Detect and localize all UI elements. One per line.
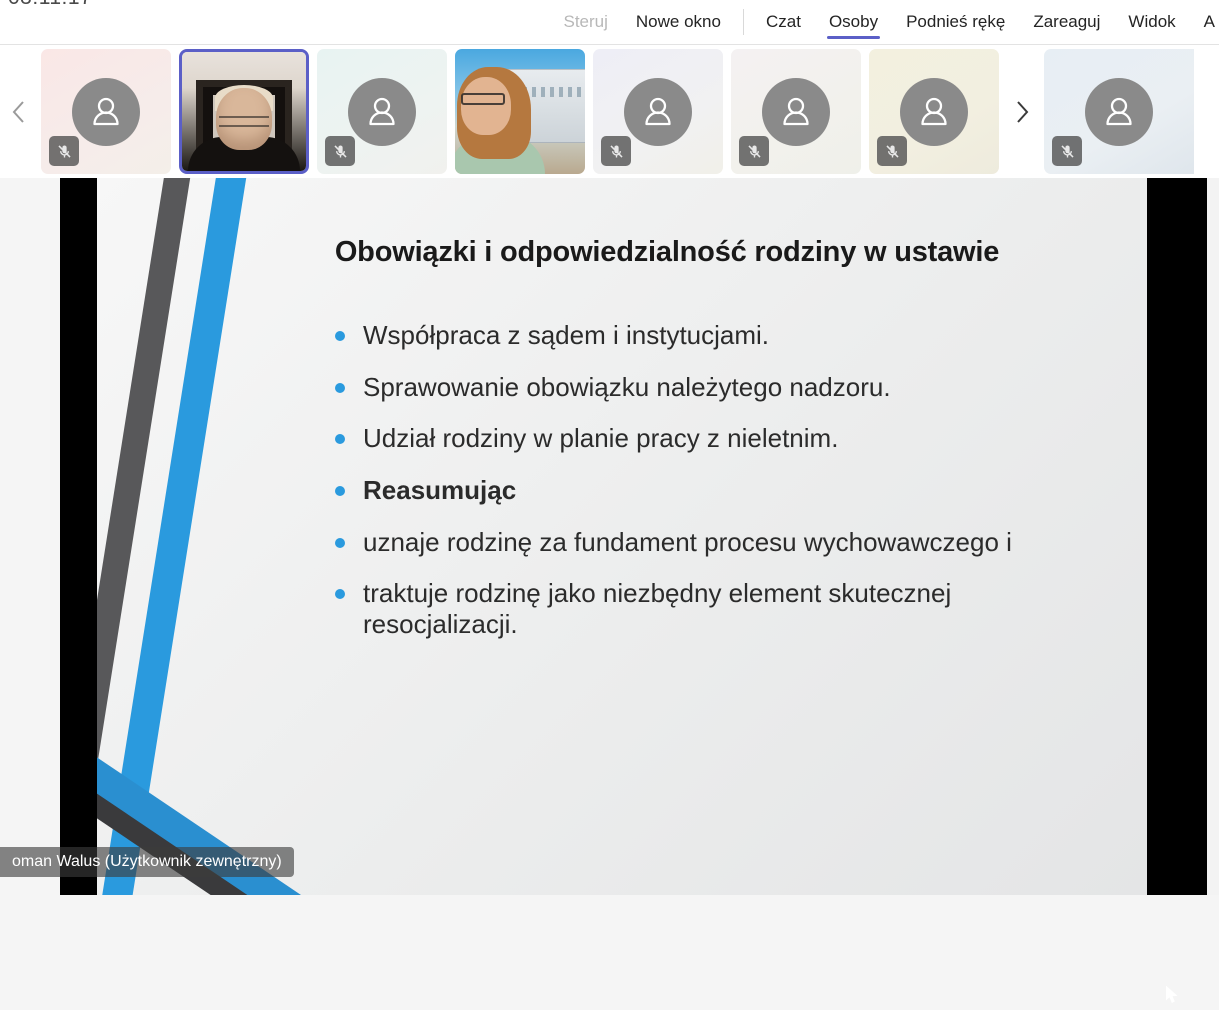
microphone-muted-icon	[877, 136, 907, 166]
person-avatar-icon	[1085, 78, 1153, 146]
meeting-toolbar: 03:11:17 Steruj Nowe okno Czat Osoby Pod…	[0, 0, 1219, 45]
slide-bullet-text: uznaje rodzinę za fundament procesu wych…	[363, 527, 1012, 557]
toolbar-item-nowe-okno[interactable]: Nowe okno	[622, 0, 735, 44]
participant-tile[interactable]	[455, 49, 585, 174]
person-avatar-icon	[624, 78, 692, 146]
video-feed	[455, 49, 585, 174]
microphone-muted-icon	[1052, 136, 1082, 166]
presenter-name-badge: oman Walus (Użytkownik zewnętrzny)	[0, 847, 294, 877]
microphone-muted-icon	[601, 136, 631, 166]
toolbar-item-zareaguj[interactable]: Zareaguj	[1019, 0, 1114, 44]
microphone-muted-icon	[49, 136, 79, 166]
chevron-left-icon	[11, 99, 27, 125]
slide-bullet-text: traktuje rodzinę jako niezbędny element …	[363, 578, 951, 639]
toolbar-item-steruj[interactable]: Steruj	[549, 0, 621, 44]
participant-tile[interactable]	[869, 49, 999, 174]
slide-bullet-item: Udział rodziny w planie pracy z nieletni…	[331, 423, 1071, 454]
person-avatar-icon	[900, 78, 968, 146]
slide-bullet-item: uznaje rodzinę za fundament procesu wych…	[331, 527, 1071, 558]
shared-content-stage: Obowiązki i odpowiedzialność rodziny w u…	[0, 178, 1219, 895]
video-feed	[182, 52, 306, 171]
slide-bullet-item: Sprawowanie obowiązku należytego nadzoru…	[331, 372, 1071, 403]
toolbar-divider	[743, 9, 744, 35]
bullet-dot-icon	[335, 331, 345, 341]
toolbar-item-czat[interactable]: Czat	[752, 0, 815, 44]
filmstrip-next-button[interactable]	[1003, 45, 1040, 178]
bullet-dot-icon	[335, 486, 345, 496]
participant-tile[interactable]	[41, 49, 171, 174]
presentation-slide[interactable]: Obowiązki i odpowiedzialność rodziny w u…	[97, 178, 1147, 895]
slide-bullet-text: Udział rodziny w planie pracy z nieletni…	[363, 423, 838, 453]
bullet-dot-icon	[335, 538, 345, 548]
slide-bullet-text: Sprawowanie obowiązku należytego nadzoru…	[363, 372, 891, 402]
microphone-muted-icon	[739, 136, 769, 166]
slide-bullet-item: Reasumując	[331, 475, 1071, 506]
toolbar-item-widok[interactable]: Widok	[1114, 0, 1189, 44]
slide-bullet-item: traktuje rodzinę jako niezbędny element …	[331, 578, 1071, 639]
person-avatar-icon	[348, 78, 416, 146]
bullet-dot-icon	[335, 434, 345, 444]
call-timer: 03:11:17	[8, 0, 92, 10]
microphone-muted-icon	[325, 136, 355, 166]
toolbar-item-osoby[interactable]: Osoby	[815, 0, 892, 44]
slide-bullet-text: Reasumując	[363, 475, 516, 505]
slide-bullet-list: Współpraca z sądem i instytucjami. Spraw…	[331, 320, 1071, 661]
participant-tile[interactable]	[731, 49, 861, 174]
participant-tile-active-speaker[interactable]	[179, 49, 309, 174]
participant-tile[interactable]	[593, 49, 723, 174]
filmstrip-prev-button[interactable]	[0, 45, 37, 178]
person-avatar-icon	[762, 78, 830, 146]
mouse-pointer-icon	[1166, 986, 1179, 1010]
slide-bullet-item: Współpraca z sądem i instytucjami.	[331, 320, 1071, 351]
slide-bullet-text: Współpraca z sądem i instytucjami.	[363, 320, 769, 350]
chevron-right-icon	[1014, 99, 1030, 125]
toolbar-item-truncated[interactable]: A	[1190, 0, 1219, 44]
stage-right-gutter	[1207, 178, 1219, 895]
toolbar-actions: Steruj Nowe okno Czat Osoby Podnieś rękę…	[549, 0, 1219, 44]
toolbar-item-podnies-reke[interactable]: Podnieś rękę	[892, 0, 1019, 44]
slide-title: Obowiązki i odpowiedzialność rodziny w u…	[247, 236, 1087, 269]
participant-tile[interactable]	[317, 49, 447, 174]
bullet-dot-icon	[335, 589, 345, 599]
person-avatar-icon	[72, 78, 140, 146]
participant-tile[interactable]	[1044, 49, 1194, 174]
participant-filmstrip	[0, 45, 1219, 178]
bullet-dot-icon	[335, 383, 345, 393]
